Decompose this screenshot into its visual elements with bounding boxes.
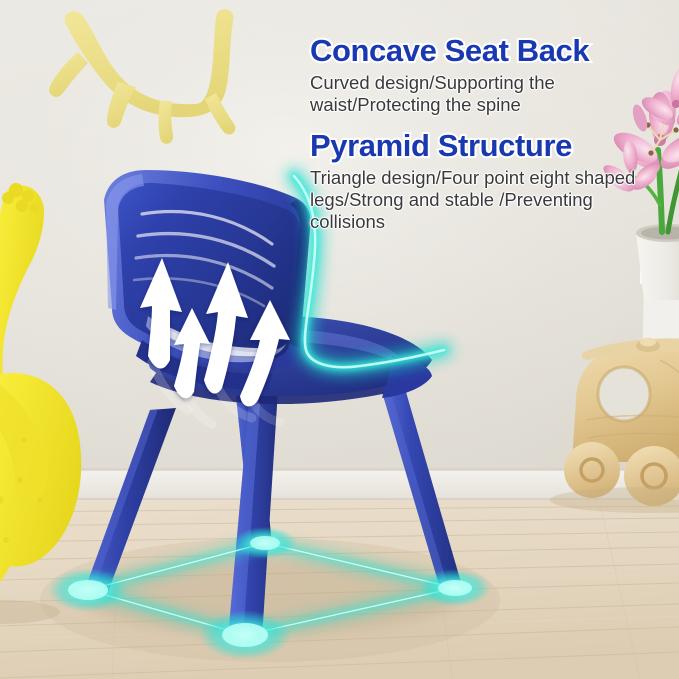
- airflow-arrow-4: [240, 300, 290, 406]
- airflow-arrow-group: [0, 0, 679, 679]
- airflow-arrow-3: [204, 262, 248, 394]
- airflow-arrow-2: [174, 308, 210, 398]
- product-image-scene: Concave Seat Back Curved design/Supporti…: [0, 0, 679, 679]
- airflow-arrow-1: [140, 258, 182, 369]
